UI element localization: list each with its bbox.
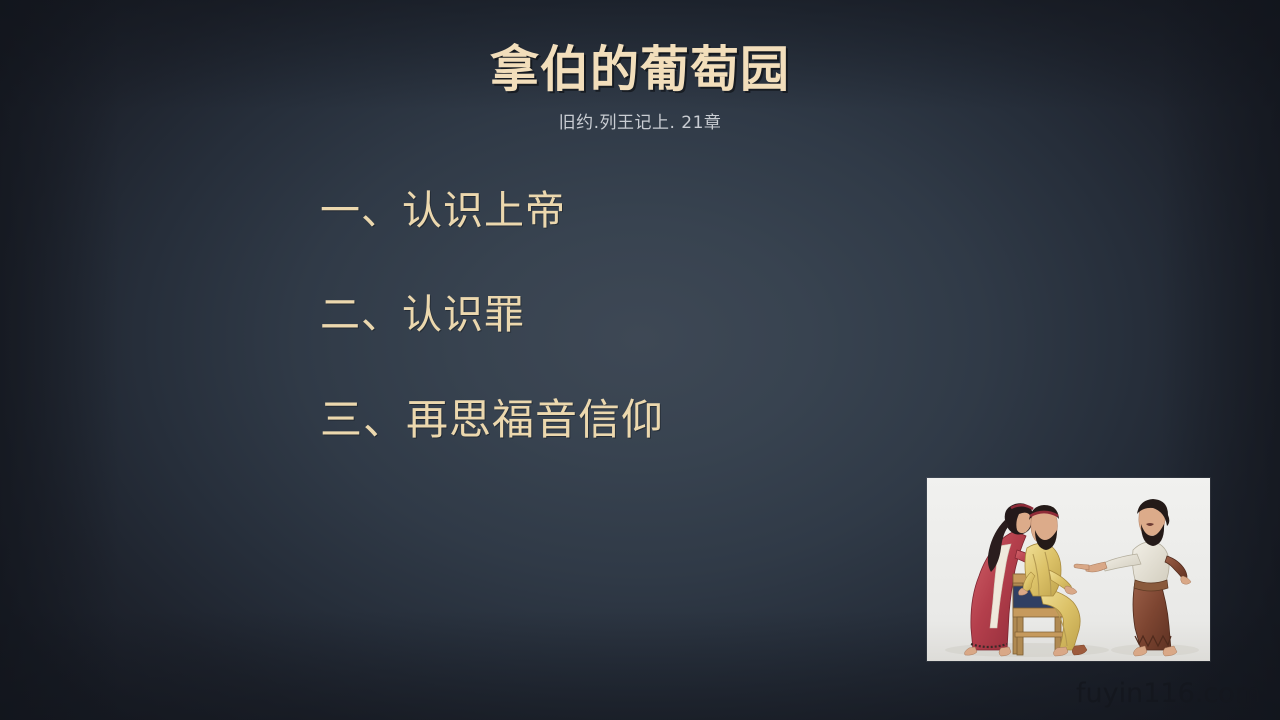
outline-item-2: 二、认识罪 [320,294,960,336]
presentation-slide: 拿伯的葡萄园 旧约.列王记上. 21章 一、认识上帝 二、认识罪 三、再思福音信… [0,0,1280,720]
outline-item-1: 一、认识上帝 [320,190,960,232]
slide-subtitle-scripture-reference: 旧约.列王记上. 21章 [0,108,1280,133]
biblical-scene-drawing [927,478,1210,661]
slide-title: 拿伯的葡萄园 [0,30,1280,101]
outline-item-3: 三、再思福音信仰 [320,398,960,442]
illustration-image [927,478,1210,661]
outline-list: 一、认识上帝 二、认识罪 三、再思福音信仰 [320,190,960,442]
site-watermark: fuyin116.com [1076,678,1261,709]
